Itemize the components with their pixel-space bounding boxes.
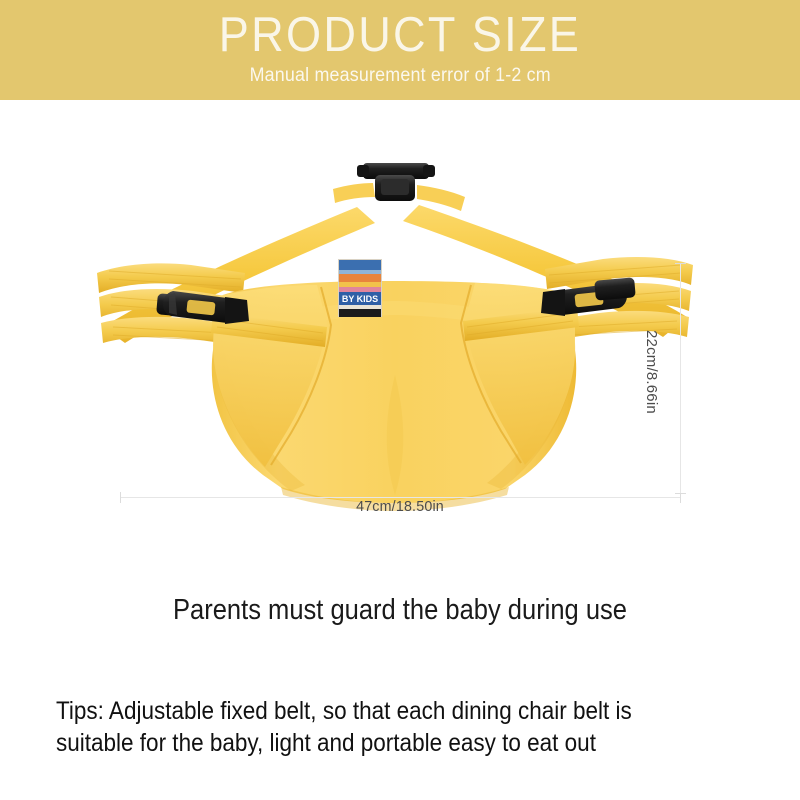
tips-line-2: suitable for the baby, light and portabl… [56, 727, 686, 759]
height-dimension-label: 22cm/8.66in [643, 330, 660, 414]
width-dimension-label: 47cm/18.50in [20, 498, 780, 515]
product-stage: BY KIDS [0, 100, 800, 560]
header-banner: PRODUCT SIZE Manual measurement error of… [0, 0, 800, 100]
height-dimension-cap-top [675, 263, 686, 264]
tips-block: Tips: Adjustable fixed belt, so that eac… [56, 695, 686, 759]
brand-label: BY KIDS [338, 259, 382, 317]
product-photo: BY KIDS [95, 145, 695, 530]
page-title: PRODUCT SIZE [219, 8, 581, 62]
height-dimension-line [680, 263, 681, 493]
header-subtitle: Manual measurement error of 1-2 cm [249, 64, 550, 88]
warning-headline: Parents must guard the baby during use [48, 592, 752, 628]
tips-line-1: Tips: Adjustable fixed belt, so that eac… [56, 695, 686, 727]
svg-text:BY KIDS: BY KIDS [342, 294, 378, 304]
height-dimension-cap-bottom [675, 493, 686, 494]
